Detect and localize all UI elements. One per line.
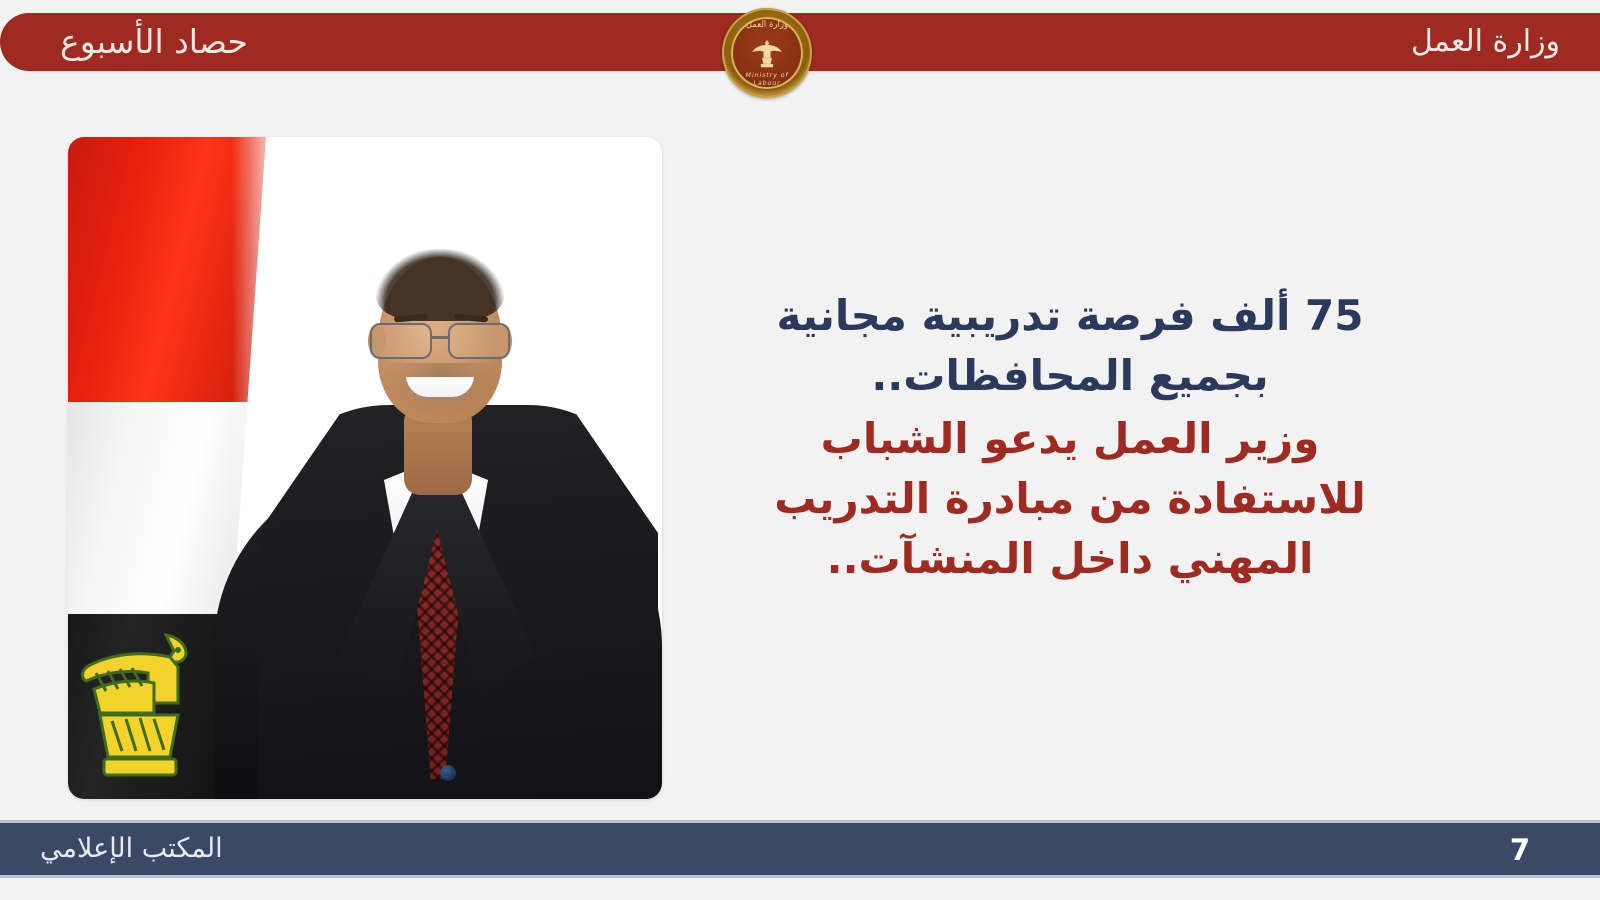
header-ministry-label: وزارة العمل bbox=[1411, 19, 1560, 65]
page-number: 7 bbox=[1510, 828, 1530, 872]
ministry-seal-icon: وزارة العمل Ministry of Labour bbox=[722, 8, 812, 98]
headline-block: 75 ألف فرصة تدريبية مجانية بجميع المحافظ… bbox=[740, 286, 1400, 588]
eyeglasses-icon bbox=[368, 323, 512, 357]
eagle-of-saladin-icon bbox=[750, 38, 784, 70]
slide-root: حصاد الأسبوع وزارة العمل وزارة العمل Min… bbox=[0, 0, 1600, 900]
footer-bar bbox=[0, 823, 1600, 875]
flag-eagle-of-saladin-icon bbox=[74, 617, 214, 792]
footer-media-office-label: المكتب الإعلامي bbox=[40, 827, 223, 871]
minister-photo bbox=[68, 137, 662, 799]
minister-figure bbox=[208, 137, 662, 799]
minister-photo-card bbox=[68, 137, 662, 799]
headline-primary-text: 75 ألف فرصة تدريبية مجانية بجميع المحافظ… bbox=[740, 286, 1400, 405]
ministry-seal-inner: وزارة العمل Ministry of Labour bbox=[731, 17, 803, 89]
ministry-seal-arabic-text: وزارة العمل bbox=[731, 20, 803, 31]
footer-bottom-divider bbox=[0, 875, 1600, 878]
header-weekly-harvest-label: حصاد الأسبوع bbox=[60, 18, 248, 66]
headline-secondary-text: وزير العمل يدعو الشباب للاستفادة من مباد… bbox=[740, 409, 1400, 588]
ministry-seal-english-text: Ministry of Labour bbox=[731, 71, 803, 87]
